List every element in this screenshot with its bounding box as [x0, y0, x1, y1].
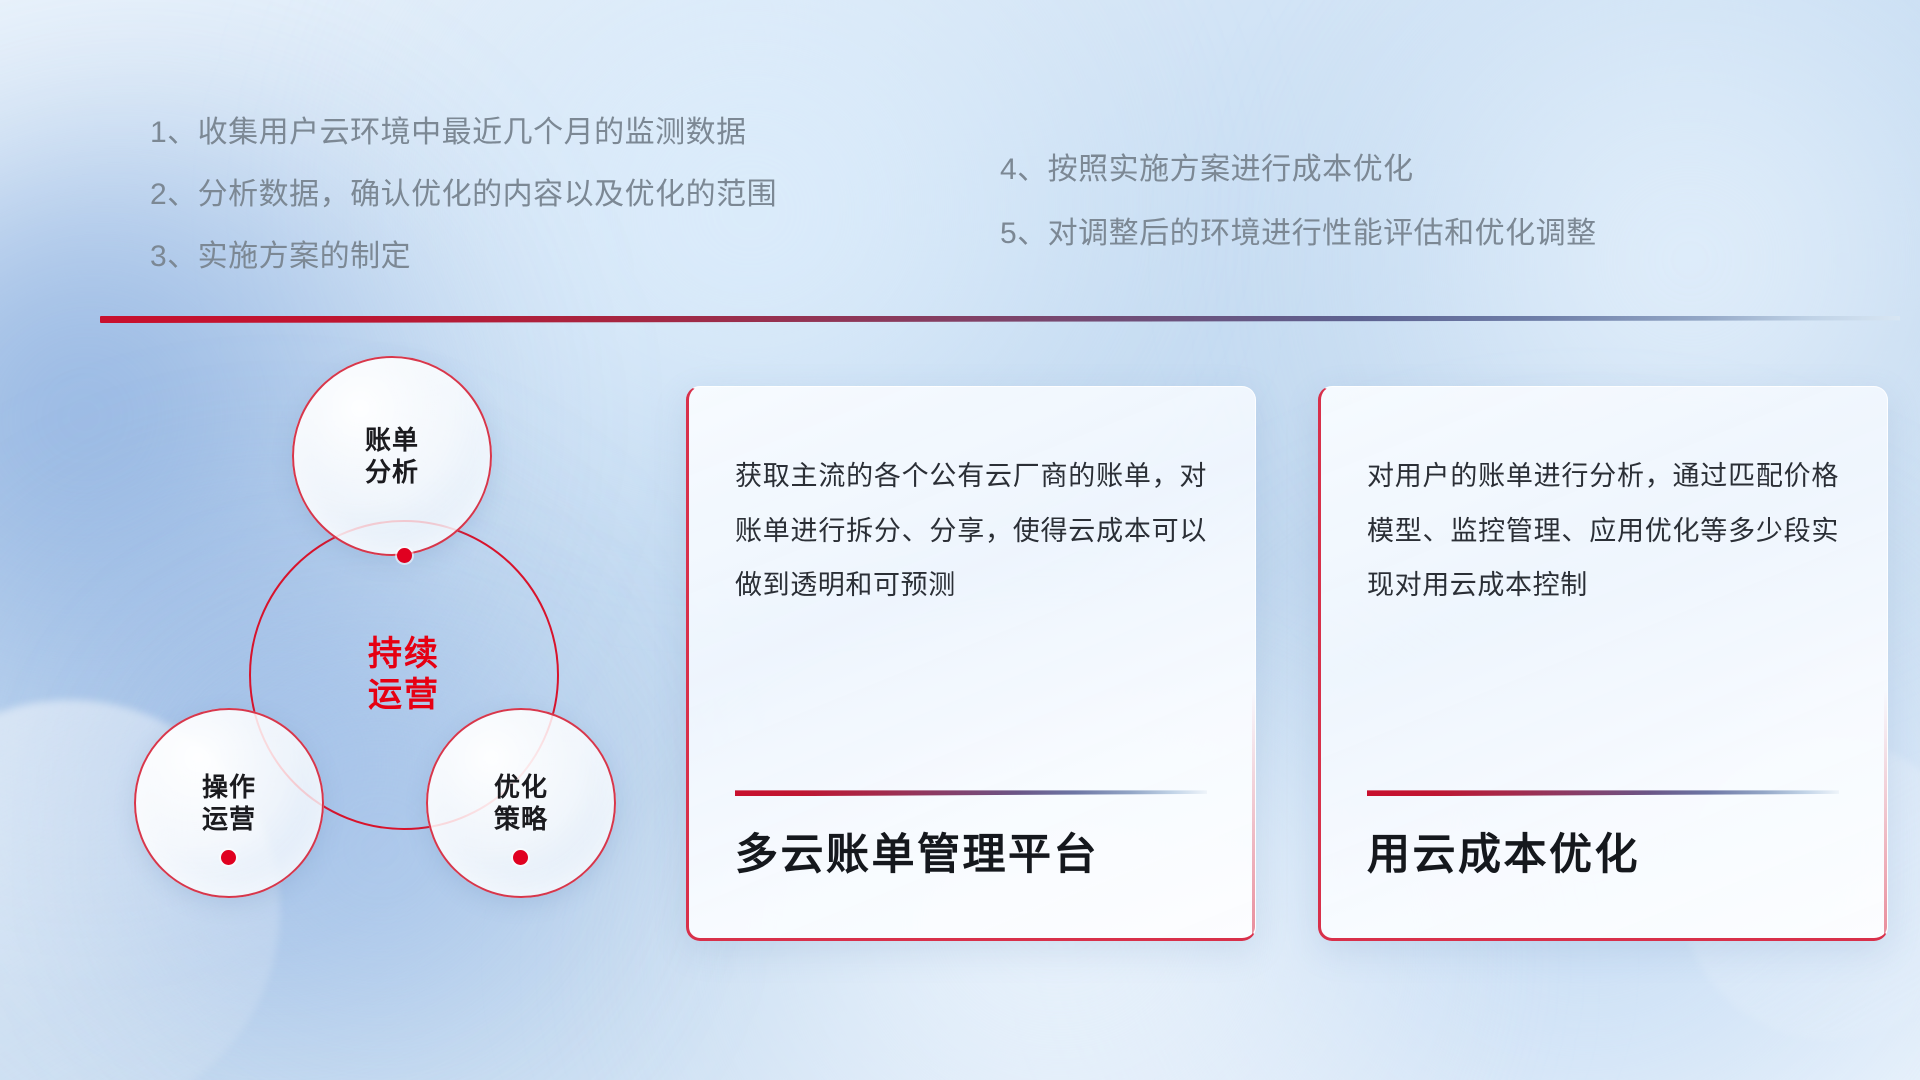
step-item-4: 4、按照实施方案进行成本优化	[1000, 155, 1597, 185]
node-ops-operation-line-1: 操作	[202, 771, 256, 804]
step-item-3: 3、实施方案的制定	[150, 242, 777, 272]
continuous-operation-diagram: 持续 运营 账单 分析 操作 运营 优化 策略	[96, 352, 656, 972]
node-bill-analysis-line-1: 账单	[365, 424, 419, 457]
step-item-2: 2、分析数据，确认优化的内容以及优化的范围	[150, 180, 777, 210]
card-cloud-cost-optimization-title: 用云成本优化	[1367, 830, 1839, 938]
divider-gradient-bar	[100, 316, 1900, 323]
node-optimize-policy-line-1: 优化	[494, 771, 548, 804]
diagram-node-optimize-policy[interactable]: 优化 策略	[426, 708, 616, 898]
center-label-line-1: 持续	[368, 634, 440, 675]
diagram-connector-dot-bottom-right	[513, 850, 528, 865]
node-ops-operation-line-2: 运营	[202, 803, 256, 836]
diagram-node-bill-analysis[interactable]: 账单 分析	[292, 356, 492, 556]
node-bill-analysis-line-2: 分析	[365, 456, 419, 489]
diagram-connector-dot-top	[397, 548, 412, 563]
card-multi-cloud-billing[interactable]: 获取主流的各个公有云厂商的账单，对账单进行拆分、分享，使得云成本可以做到透明和可…	[686, 386, 1256, 941]
steps-left-column: 1、收集用户云环境中最近几个月的监测数据 2、分析数据，确认优化的内容以及优化的…	[150, 118, 777, 304]
node-optimize-policy-line-2: 策略	[494, 803, 548, 836]
diagram-node-ops-operation[interactable]: 操作 运营	[134, 708, 324, 898]
step-item-1: 1、收集用户云环境中最近几个月的监测数据	[150, 118, 777, 148]
card-cloud-cost-optimization[interactable]: 对用户的账单进行分析，通过匹配价格模型、监控管理、应用优化等多少段实现对用云成本…	[1318, 386, 1888, 941]
steps-right-column: 4、按照实施方案进行成本优化 5、对调整后的环境进行性能评估和优化调整	[1000, 155, 1597, 283]
step-item-5: 5、对调整后的环境进行性能评估和优化调整	[1000, 219, 1597, 249]
card-multi-cloud-billing-divider	[735, 790, 1207, 796]
center-label-line-2: 运营	[368, 675, 440, 716]
feature-cards: 获取主流的各个公有云厂商的账单，对账单进行拆分、分享，使得云成本可以做到透明和可…	[686, 386, 1888, 941]
card-multi-cloud-billing-body: 获取主流的各个公有云厂商的账单，对账单进行拆分、分享，使得云成本可以做到透明和可…	[735, 449, 1207, 613]
card-multi-cloud-billing-title: 多云账单管理平台	[735, 830, 1207, 938]
diagram-connector-dot-bottom-left	[221, 850, 236, 865]
steps-section: 1、收集用户云环境中最近几个月的监测数据 2、分析数据，确认优化的内容以及优化的…	[0, 0, 1920, 300]
card-cloud-cost-optimization-body: 对用户的账单进行分析，通过匹配价格模型、监控管理、应用优化等多少段实现对用云成本…	[1367, 449, 1839, 613]
section-divider	[100, 316, 1900, 328]
card-cloud-cost-optimization-divider	[1367, 790, 1839, 796]
